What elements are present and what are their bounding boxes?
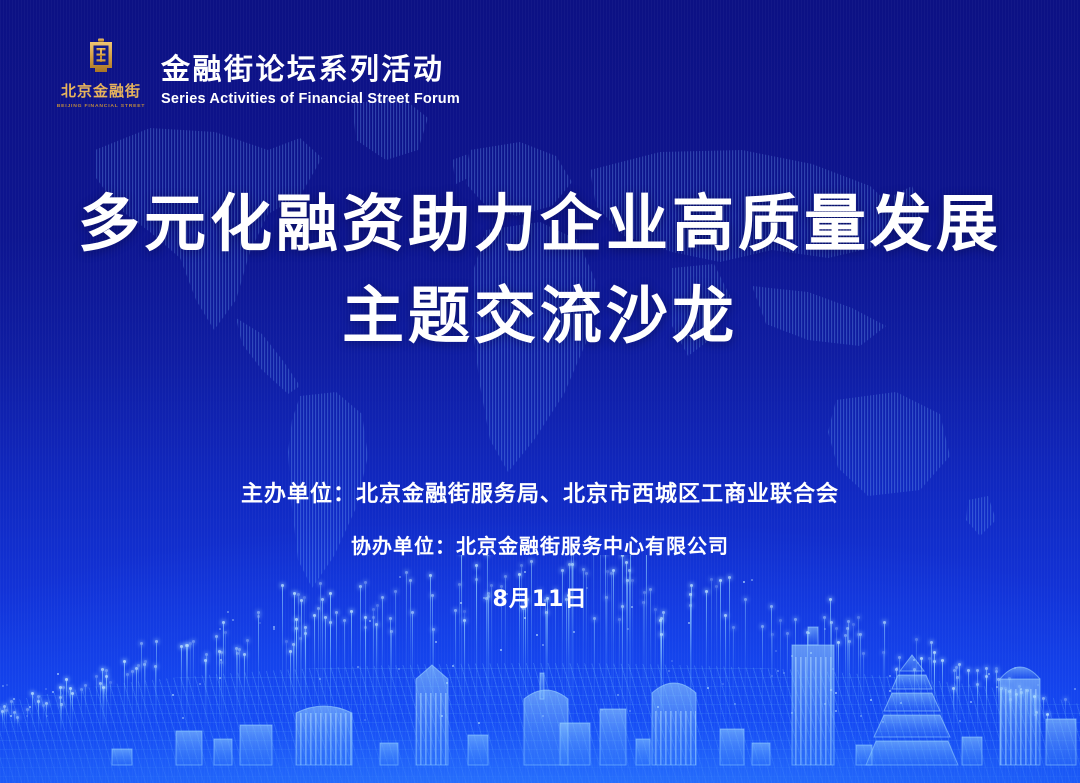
- light-beam: [1021, 693, 1022, 736]
- light-beam: [795, 620, 796, 735]
- light-beam: [43, 706, 44, 735]
- light-particle: [29, 706, 31, 708]
- light-beam: [488, 597, 489, 735]
- light-beam: [124, 662, 125, 736]
- light-beam: [733, 628, 734, 735]
- light-particle: [1047, 713, 1049, 715]
- light-beam: [330, 623, 331, 735]
- light-beam: [527, 600, 528, 735]
- light-beam: [622, 607, 623, 735]
- light-beam: [1009, 679, 1010, 736]
- light-beam: [838, 643, 839, 735]
- light-particle: [824, 628, 826, 630]
- light-particle: [657, 706, 659, 708]
- light-beam: [103, 688, 104, 736]
- header-logo-lockup: 北京金融街 BEIJING FINANCIAL STREET 金融街论坛系列活动…: [57, 36, 460, 109]
- light-beam: [787, 634, 788, 735]
- light-beam: [63, 688, 64, 735]
- light-beam: [66, 680, 67, 735]
- light-particle: [273, 628, 275, 630]
- light-beam: [391, 632, 392, 735]
- light-beam: [258, 617, 259, 735]
- light-particle: [357, 666, 359, 668]
- light-beam: [884, 623, 885, 735]
- light-particle: [1014, 667, 1016, 669]
- light-beam: [141, 644, 142, 735]
- light-beam: [390, 619, 391, 735]
- light-beam: [883, 653, 884, 735]
- light-beam: [1010, 700, 1011, 735]
- light-beam: [244, 655, 245, 735]
- scanline-texture: [0, 0, 1080, 783]
- light-beam: [661, 635, 662, 735]
- light-beam: [745, 600, 746, 735]
- light-beam: [46, 704, 47, 735]
- light-beam: [106, 671, 107, 735]
- light-particle: [52, 691, 54, 693]
- light-beam: [221, 653, 222, 736]
- light-particle: [1074, 688, 1076, 690]
- light-particle: [996, 686, 998, 688]
- light-particle: [182, 717, 184, 719]
- light-beam: [934, 662, 935, 735]
- light-beam: [81, 690, 82, 735]
- light-beam: [61, 705, 62, 735]
- financial-street-seal-icon: [84, 36, 118, 76]
- light-beam: [325, 618, 326, 735]
- light-beam: [916, 640, 917, 735]
- light-beam: [545, 601, 546, 735]
- light-beam: [294, 594, 295, 736]
- light-particle: [319, 678, 321, 680]
- light-beam: [845, 636, 846, 735]
- light-beam: [986, 677, 987, 735]
- light-particle: [688, 622, 690, 624]
- light-beam: [644, 593, 645, 735]
- light-beam: [377, 606, 378, 735]
- logo-brand-cn: 北京金融街: [61, 80, 141, 101]
- light-beam: [27, 710, 28, 735]
- light-beam: [956, 668, 957, 735]
- light-beam: [258, 613, 259, 735]
- light-beam: [594, 619, 595, 735]
- light-particle: [45, 688, 47, 690]
- light-beam: [17, 718, 18, 735]
- light-beam: [1027, 691, 1028, 736]
- light-beam: [144, 665, 145, 735]
- light-particle: [668, 670, 670, 672]
- light-beam: [725, 616, 726, 735]
- light-particle: [775, 650, 777, 652]
- light-beam: [4, 707, 5, 735]
- light-beam: [568, 596, 569, 735]
- event-series-title-en: Series Activities of Financial Street Fo…: [161, 91, 460, 107]
- light-beam: [293, 645, 294, 735]
- light-beam: [977, 671, 978, 735]
- light-particle: [219, 628, 221, 630]
- light-particle: [273, 626, 275, 628]
- light-beam: [237, 654, 238, 735]
- light-particle: [536, 634, 538, 636]
- light-particle: [629, 710, 631, 712]
- light-particle: [500, 649, 502, 651]
- light-particle: [824, 703, 826, 705]
- light-beam: [102, 670, 103, 736]
- light-beam: [547, 599, 548, 735]
- light-particle: [573, 631, 575, 633]
- light-beam: [606, 598, 607, 735]
- light-beam: [155, 667, 156, 735]
- light-beam: [853, 625, 854, 735]
- light-particle: [771, 675, 773, 677]
- light-particle: [259, 622, 261, 624]
- light-beam: [205, 661, 206, 735]
- light-beam: [376, 625, 377, 735]
- light-beam: [38, 702, 39, 735]
- light-particle: [870, 699, 872, 701]
- light-beam: [11, 702, 12, 736]
- light-beam: [106, 677, 107, 735]
- light-beam: [187, 646, 188, 735]
- light-particle: [791, 655, 793, 657]
- light-beam: [72, 694, 73, 735]
- light-beam: [305, 634, 306, 735]
- light-beam: [464, 621, 465, 735]
- light-beam: [138, 666, 139, 735]
- light-beam: [663, 613, 664, 735]
- logo-brand-en: BEIJING FINANCIAL STREET: [57, 103, 146, 109]
- light-beam: [762, 627, 763, 735]
- light-beam: [921, 659, 922, 735]
- light-beam: [351, 612, 352, 735]
- light-beam: [193, 642, 194, 735]
- light-beam: [336, 613, 337, 735]
- light-beam: [899, 658, 900, 735]
- light-beam: [1043, 699, 1044, 735]
- light-particle: [882, 721, 884, 723]
- light-beam: [690, 606, 691, 735]
- light-beam: [942, 661, 943, 735]
- light-particle: [369, 620, 371, 622]
- light-beam: [1034, 697, 1035, 735]
- light-beam: [38, 697, 39, 735]
- light-particle: [542, 644, 544, 646]
- light-beam: [848, 622, 849, 735]
- light-beam: [486, 599, 487, 735]
- light-particle: [830, 689, 832, 691]
- light-beam: [954, 671, 955, 736]
- light-beam: [412, 613, 413, 735]
- light-particle: [199, 683, 201, 685]
- light-particle: [1037, 684, 1039, 686]
- light-particle: [398, 668, 400, 670]
- light-beam: [655, 610, 656, 735]
- light-beam: [186, 646, 187, 735]
- light-particle: [232, 619, 234, 621]
- light-beam: [830, 600, 831, 735]
- light-particle: [777, 670, 779, 672]
- light-particle: [601, 709, 603, 711]
- light-particle: [970, 701, 972, 703]
- light-particle: [478, 722, 480, 724]
- ground-wave-mesh: [0, 663, 1080, 783]
- event-date: 8月11日: [0, 581, 1080, 613]
- light-particle: [57, 673, 59, 675]
- light-particle: [808, 632, 810, 634]
- light-beam: [968, 671, 969, 735]
- co-organizer-line: 协办单位：北京金融街服务中心有限公司: [0, 530, 1080, 559]
- light-particle: [2, 685, 4, 687]
- light-beam: [206, 655, 207, 736]
- light-beam: [977, 685, 978, 735]
- light-beam: [1005, 689, 1006, 735]
- light-beam: [96, 677, 97, 735]
- light-beam: [365, 628, 366, 735]
- light-beam: [216, 637, 217, 735]
- light-beam: [373, 610, 374, 735]
- light-particle: [441, 715, 443, 717]
- light-beam: [296, 620, 297, 735]
- light-beam: [236, 649, 237, 736]
- light-beam: [110, 683, 111, 735]
- light-beam: [365, 618, 366, 735]
- light-beam: [831, 623, 832, 735]
- light-beam: [1065, 700, 1066, 735]
- light-beam: [858, 635, 859, 735]
- light-beam: [14, 713, 15, 736]
- light-particle: [364, 719, 366, 721]
- light-beam: [1036, 713, 1037, 735]
- light-beam: [1019, 687, 1020, 735]
- light-beam: [300, 639, 301, 735]
- light-particle: [783, 672, 785, 674]
- light-beam: [525, 603, 526, 735]
- light-beam: [1009, 692, 1010, 735]
- light-beam: [619, 620, 620, 735]
- light-particle: [435, 641, 437, 643]
- light-beam: [318, 609, 319, 735]
- light-beam: [860, 635, 861, 735]
- light-beam: [223, 623, 224, 735]
- light-beam: [690, 595, 691, 735]
- light-particle: [835, 710, 837, 712]
- light-beam: [847, 629, 848, 735]
- light-beam: [836, 629, 837, 735]
- light-beam: [305, 628, 306, 735]
- light-beam: [1047, 715, 1048, 736]
- light-beam: [132, 672, 133, 735]
- light-beam: [863, 654, 864, 735]
- light-particle: [452, 665, 454, 667]
- light-beam: [225, 633, 226, 735]
- light-beam: [546, 613, 547, 735]
- light-beam: [104, 688, 105, 735]
- light-particle: [913, 659, 915, 661]
- credits-block: 主办单位：北京金融街服务局、北京市西城区工商业联合会 协办单位：北京金融街服务中…: [0, 476, 1080, 613]
- light-particle: [219, 677, 221, 679]
- light-beam: [1016, 695, 1017, 736]
- light-beam: [959, 665, 960, 735]
- title-line-1: 多元化融资助力企业高质量发展: [0, 178, 1080, 270]
- light-beam: [60, 688, 61, 736]
- light-particle: [832, 668, 834, 670]
- light-particle: [172, 694, 174, 696]
- light-beam: [986, 669, 987, 735]
- light-particle: [900, 702, 902, 704]
- poster-canvas: 北京金融街 BEIJING FINANCIAL STREET 金融街论坛系列活动…: [0, 0, 1080, 783]
- light-beam: [566, 600, 567, 735]
- light-beam: [190, 644, 191, 735]
- light-beam: [807, 633, 808, 735]
- light-beam: [858, 618, 859, 736]
- light-beam: [60, 698, 61, 735]
- light-particle: [627, 628, 629, 630]
- light-beam: [1001, 689, 1002, 735]
- light-particle: [46, 715, 48, 717]
- light-beam: [100, 684, 101, 735]
- light-beam: [953, 689, 954, 735]
- world-map-background: [0, 0, 1080, 783]
- light-beam: [286, 642, 287, 735]
- light-particle: [1034, 714, 1036, 716]
- light-beam: [488, 594, 489, 735]
- light-particle: [896, 667, 898, 669]
- light-beam: [136, 669, 137, 735]
- light-particle: [835, 692, 837, 694]
- light-particle: [734, 703, 736, 705]
- light-particle: [988, 673, 990, 675]
- light-particle: [1020, 688, 1022, 690]
- light-beam: [219, 652, 220, 735]
- event-series-title-cn: 金融街论坛系列活动: [161, 53, 460, 86]
- light-beam: [247, 641, 248, 735]
- light-beam: [373, 618, 374, 735]
- light-beam: [221, 663, 222, 735]
- title-line-2: 主题交流沙龙: [0, 270, 1080, 362]
- light-beam: [998, 680, 999, 735]
- light-particle: [917, 662, 919, 664]
- light-beam: [32, 694, 33, 735]
- light-beam: [996, 672, 997, 736]
- light-particle: [26, 715, 28, 717]
- light-beam: [957, 678, 958, 735]
- light-particle: [860, 715, 862, 717]
- light-beam: [780, 621, 781, 735]
- light-beam: [896, 670, 897, 735]
- light-particle: [959, 720, 961, 722]
- light-beam: [433, 630, 434, 735]
- beijing-financial-street-logo: 北京金融街 BEIJING FINANCIAL STREET: [57, 36, 145, 109]
- light-beam: [290, 652, 291, 735]
- light-particle: [707, 687, 709, 689]
- page-title: 多元化融资助力企业高质量发展 主题交流沙龙: [0, 178, 1080, 362]
- light-beam: [660, 621, 661, 735]
- light-beam: [706, 592, 707, 735]
- light-particle: [889, 675, 891, 677]
- light-beam: [145, 662, 146, 735]
- light-beam: [464, 612, 465, 735]
- light-beam: [322, 600, 323, 735]
- light-beam: [824, 618, 825, 735]
- light-beam: [344, 621, 345, 735]
- light-beam: [70, 689, 71, 735]
- event-series-titleblock: 金融街论坛系列活动 Series Activities of Financial…: [161, 53, 460, 109]
- light-beam: [296, 629, 297, 735]
- light-beam: [6, 711, 7, 735]
- light-beam: [931, 643, 932, 735]
- light-particle: [10, 715, 12, 717]
- light-beam: [914, 670, 915, 735]
- light-beam: [127, 675, 128, 735]
- light-beam: [772, 635, 773, 735]
- light-beam: [330, 594, 331, 735]
- light-particle: [617, 694, 619, 696]
- light-beam: [395, 592, 396, 736]
- light-beam: [2, 712, 3, 735]
- light-beam: [523, 609, 524, 735]
- light-beam: [181, 647, 182, 735]
- light-beam: [771, 607, 772, 735]
- light-beam: [85, 686, 86, 735]
- light-beam: [996, 669, 997, 736]
- light-particle: [220, 659, 222, 661]
- light-particle: [13, 698, 15, 700]
- light-beam: [298, 595, 299, 735]
- light-beam: [156, 642, 157, 735]
- light-beam: [432, 596, 433, 735]
- light-beam: [382, 598, 383, 735]
- light-beam: [239, 650, 240, 735]
- light-beam: [661, 619, 662, 735]
- light-particle: [6, 684, 8, 686]
- light-particle: [446, 682, 448, 684]
- light-beam: [455, 611, 456, 735]
- light-particle: [524, 617, 526, 619]
- ground-glow: [0, 663, 1080, 783]
- organizer-line: 主办单位：北京金融街服务局、北京市西城区工商业联合会: [0, 476, 1080, 508]
- light-particle: [810, 652, 812, 654]
- light-particle: [671, 660, 673, 662]
- light-particle: [889, 690, 891, 692]
- light-beam: [301, 601, 302, 735]
- light-beam: [314, 616, 315, 735]
- light-particle: [542, 715, 544, 717]
- light-particle: [791, 712, 793, 714]
- light-beam: [849, 642, 850, 735]
- light-beam: [929, 659, 930, 735]
- light-particle: [722, 683, 724, 685]
- light-beam: [934, 653, 935, 735]
- light-beam: [304, 598, 305, 736]
- light-beam: [643, 603, 644, 736]
